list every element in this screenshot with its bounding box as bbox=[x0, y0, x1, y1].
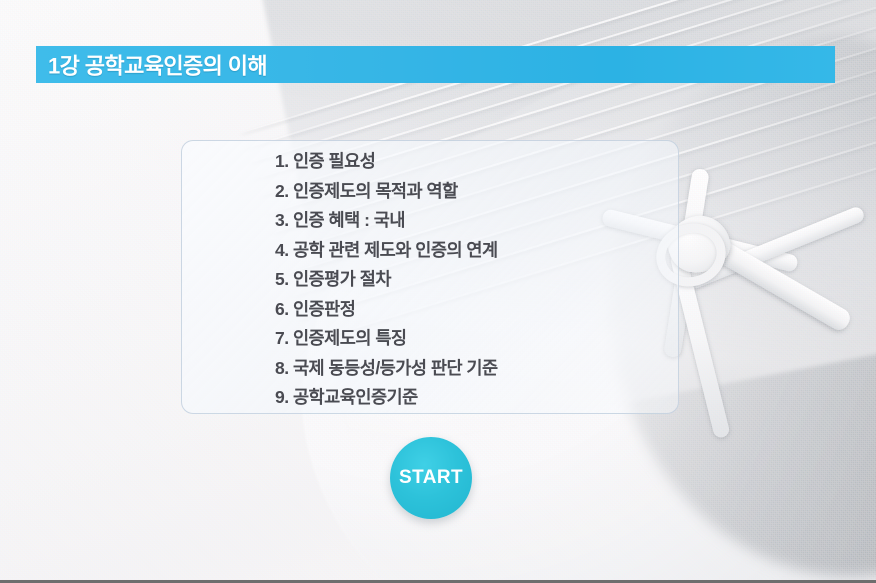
list-item[interactable]: 6. 인증판정 bbox=[275, 295, 678, 325]
start-button-wrapper: START bbox=[390, 437, 472, 519]
list-item[interactable]: 3. 인증 혜택 : 국내 bbox=[275, 206, 678, 236]
list-item[interactable]: 1. 인증 필요성 bbox=[275, 147, 678, 177]
page-title: 1강 공학교육인증의 이해 bbox=[48, 48, 267, 80]
list-item[interactable]: 4. 공학 관련 제도와 인증의 연계 bbox=[275, 236, 678, 266]
contents-list: 1. 인증 필요성 2. 인증제도의 목적과 역할 3. 인증 혜택 : 국내 … bbox=[182, 147, 678, 413]
list-item[interactable]: 8. 국제 동등성/등가성 판단 기준 bbox=[275, 354, 678, 384]
list-item[interactable]: 7. 인증제도의 특징 bbox=[275, 324, 678, 354]
list-item[interactable]: 9. 공학교육인증기준 bbox=[275, 383, 678, 413]
slide-title-bar: 1강 공학교육인증의 이해 bbox=[36, 46, 835, 83]
lecture-intro-slide: 1강 공학교육인증의 이해 1. 인증 필요성 2. 인증제도의 목적과 역할 … bbox=[0, 0, 876, 583]
contents-panel: 1. 인증 필요성 2. 인증제도의 목적과 역할 3. 인증 혜택 : 국내 … bbox=[181, 140, 679, 414]
list-item[interactable]: 5. 인증평가 절차 bbox=[275, 265, 678, 295]
list-item[interactable]: 2. 인증제도의 목적과 역할 bbox=[275, 177, 678, 207]
start-button[interactable]: START bbox=[390, 437, 472, 519]
